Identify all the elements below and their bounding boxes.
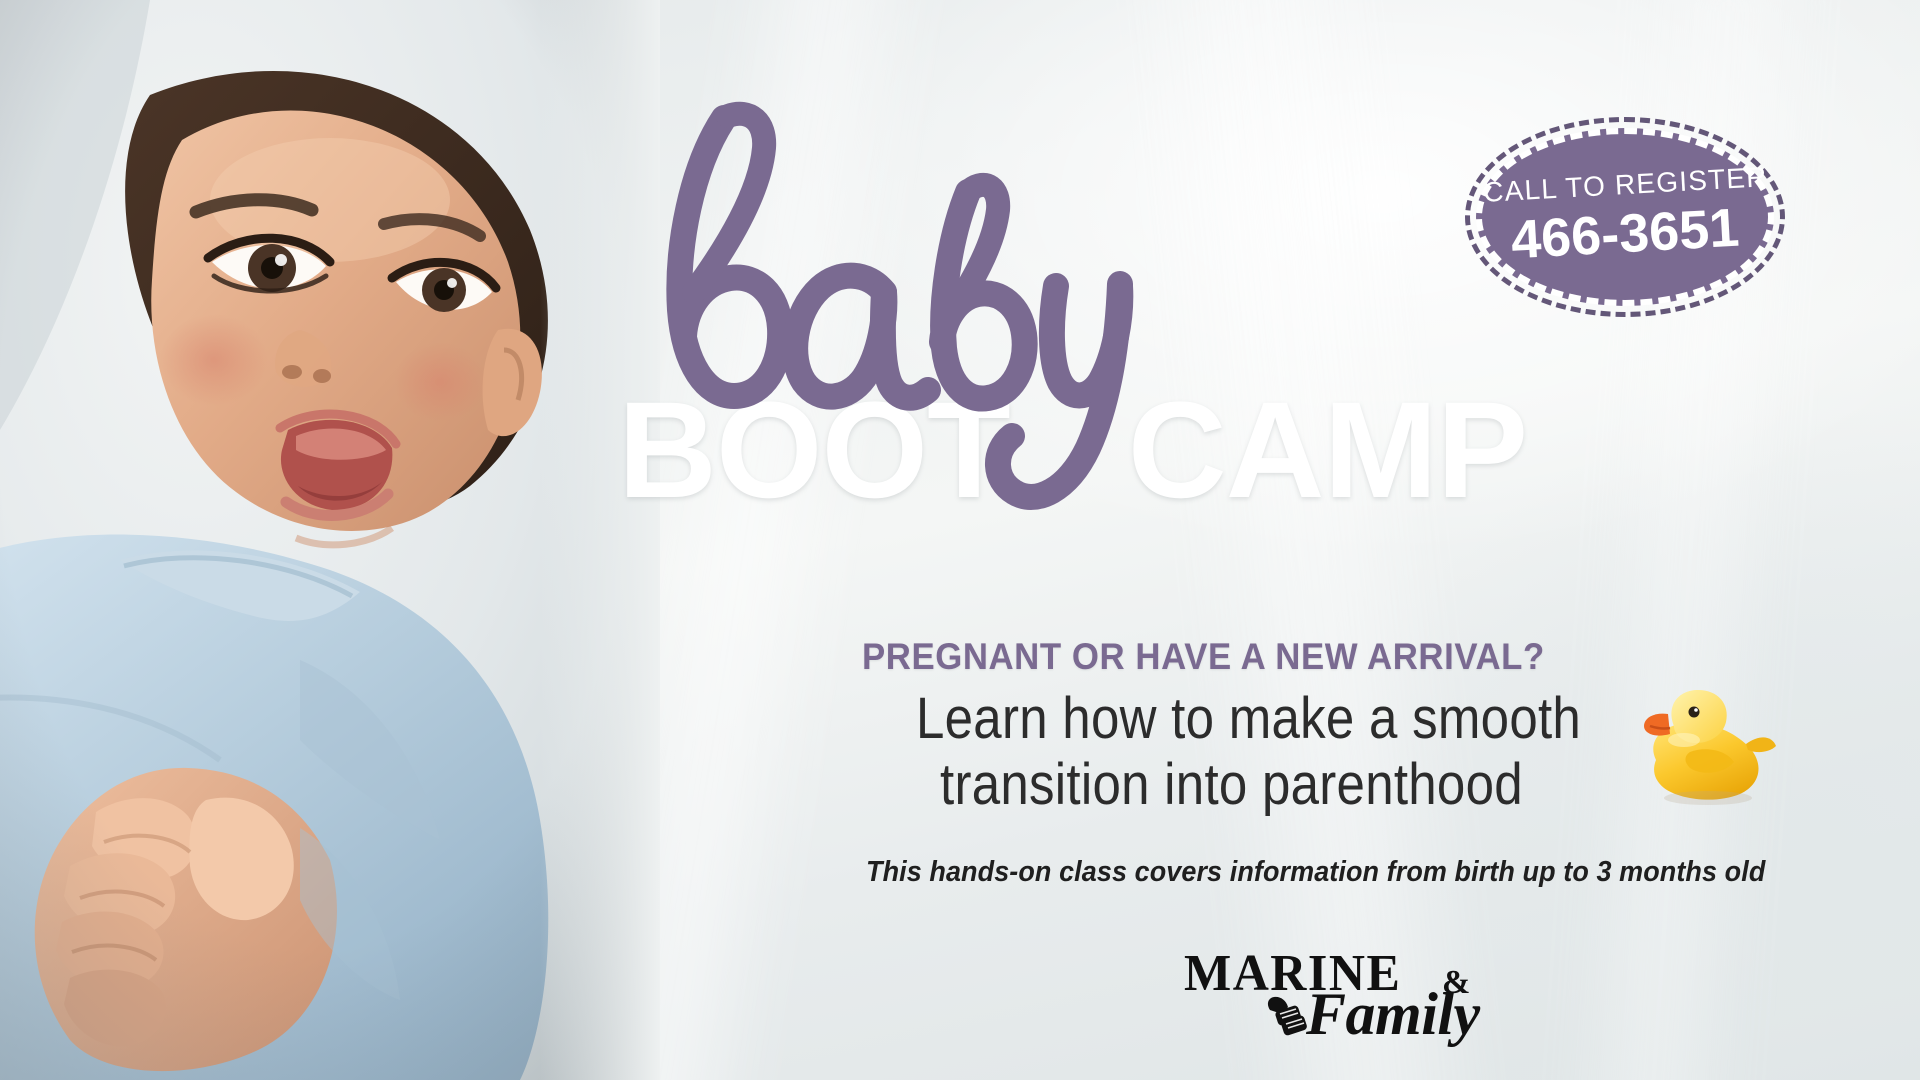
call-to-register-badge[interactable]: CALL TO REGISTER 466-3651 (1476, 128, 1774, 306)
rubber-duck-icon (1628, 688, 1780, 808)
headline-block: BOOTCAMP (612, 96, 1572, 516)
subhead-question: PREGNANT OR HAVE A NEW ARRIVAL? (862, 636, 1545, 678)
body-copy-line-1: Learn how to make a smooth (916, 686, 1462, 752)
script-title-baby (632, 96, 1192, 496)
body-copy-line-2: transition into parenthood (940, 752, 1464, 818)
fine-print-line: This hands-on class covers information f… (866, 856, 1765, 889)
flyer-canvas: BOOTCAMP CALL TO REGISTER 466-3651 PREGN… (0, 0, 1920, 1080)
badge-phone-number: 466-3651 (1509, 197, 1740, 272)
marine-and-family-logo: MARINE & Family (1184, 942, 1504, 1048)
logo-word-family: Family (1306, 980, 1480, 1049)
badge-text-group: CALL TO REGISTER 466-3651 (1476, 128, 1774, 306)
body-copy-block: Learn how to make a smooth transition in… (916, 686, 1536, 817)
baby-photo (0, 0, 660, 1080)
